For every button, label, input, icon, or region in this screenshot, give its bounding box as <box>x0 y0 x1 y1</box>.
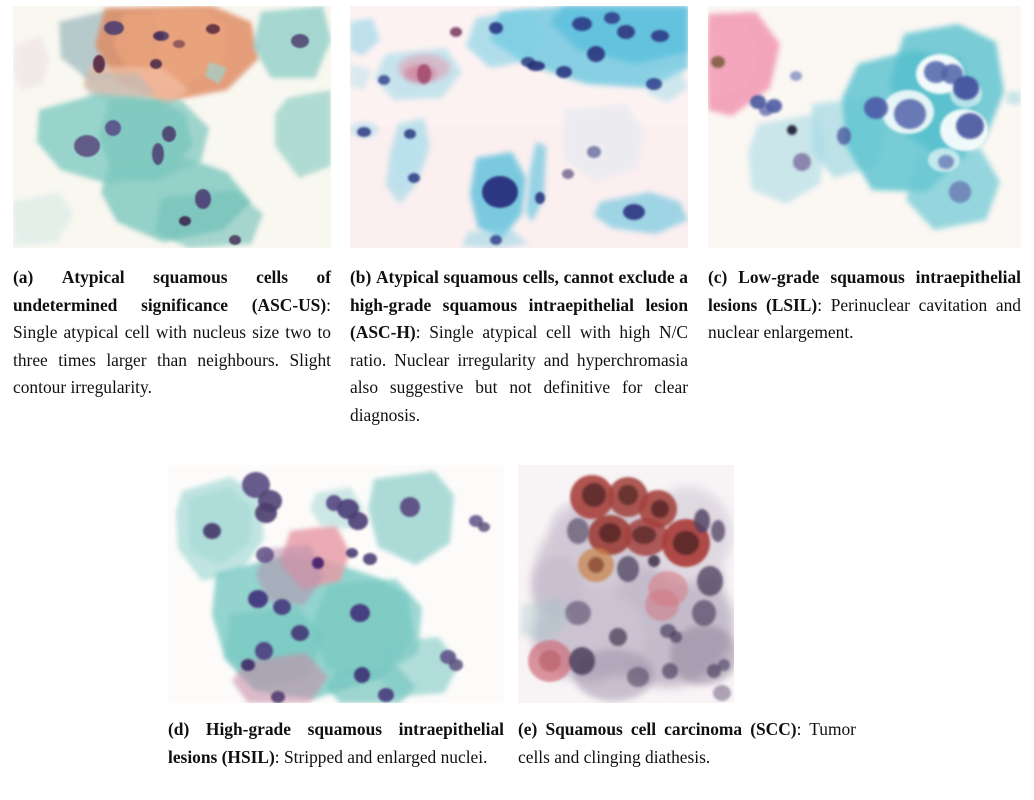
caption-a-body: Single atypical cell with nucleus size t… <box>13 322 331 397</box>
figure-root: (a) Atypical squamous cells of undetermi… <box>0 0 1034 800</box>
micrograph-c <box>708 6 1021 248</box>
caption-e-title: Squamous cell carcinoma (SCC) <box>545 719 796 739</box>
caption-e-letter: (e) <box>518 719 537 739</box>
caption-a-letter: (a) <box>13 267 33 287</box>
micrograph-d <box>168 465 504 703</box>
micrograph-b-art <box>350 6 688 248</box>
caption-b-letter: (b) <box>350 267 371 287</box>
micrograph-c-art <box>708 6 1021 248</box>
micrograph-d-art <box>168 465 504 703</box>
caption-d-body: Stripped and enlarged nuclei. <box>284 747 487 767</box>
caption-e: (e) Squamous cell carcinoma (SCC): Tumor… <box>518 716 856 771</box>
caption-c-letter: (c) <box>708 267 727 287</box>
micrograph-e-art <box>518 465 734 703</box>
micrograph-e <box>518 465 734 703</box>
micrograph-a <box>13 6 331 248</box>
caption-d-letter: (d) <box>168 719 189 739</box>
caption-b: (b) Atypical squamous cells, cannot excl… <box>350 264 688 429</box>
caption-d: (d) High-grade squamous intraepithelial … <box>168 716 504 771</box>
micrograph-b <box>350 6 688 248</box>
micrograph-a-art <box>13 6 331 248</box>
caption-a: (a) Atypical squamous cells of undetermi… <box>13 264 331 402</box>
caption-c: (c) Low-grade squamous intraepithelial l… <box>708 264 1021 347</box>
